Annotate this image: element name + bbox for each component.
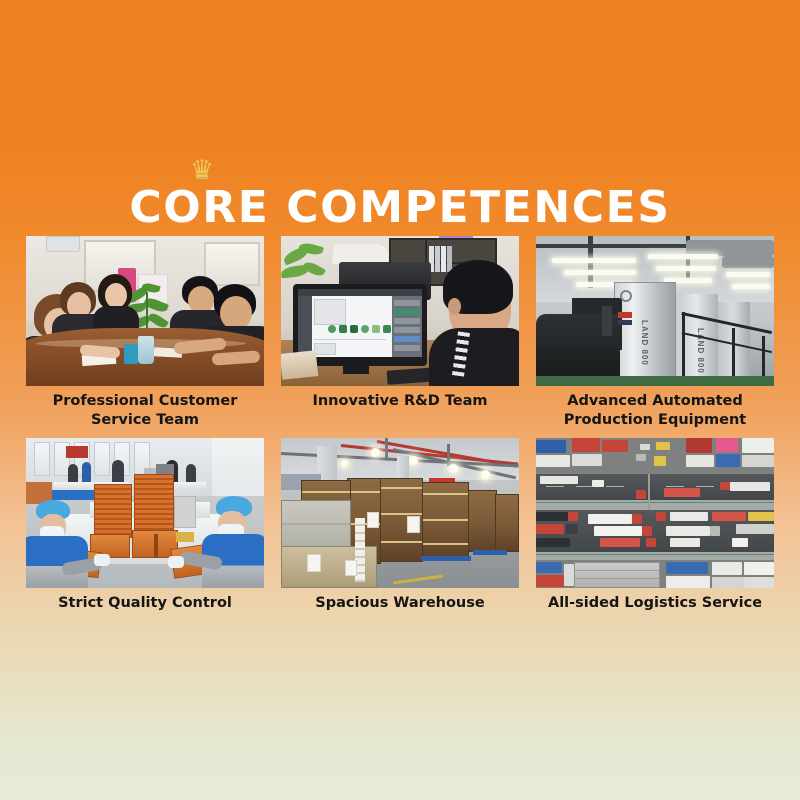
photo-aerial-container-port (536, 438, 774, 588)
caption-all-sided-logistics-service: All-sided Logistics Service (536, 588, 774, 613)
caption-line-1: Professional Customer (26, 392, 264, 411)
photo-warehouse-pallets (281, 438, 519, 588)
caption-line-1: Strict Quality Control (26, 594, 264, 613)
competences-grid: Professional Customer Service Team (26, 236, 774, 613)
cell-advanced-automated-production-equipment[interactable]: LAND 800 LAND 800 Advanced Automated Pro… (536, 236, 774, 430)
caption-strict-quality-control: Strict Quality Control (26, 588, 264, 613)
caption-spacious-warehouse: Spacious Warehouse (281, 588, 519, 613)
photo-customer-service-meeting (26, 236, 264, 386)
caption-innovative-rd-team: Innovative R&D Team (281, 386, 519, 411)
grid-row-2: Strict Quality Control (26, 438, 774, 613)
photo-rd-designer-at-monitor (281, 236, 519, 386)
page-title: CORE COMPETENCES (129, 181, 670, 235)
cell-strict-quality-control[interactable]: Strict Quality Control (26, 438, 264, 613)
cell-professional-customer-service-team[interactable]: Professional Customer Service Team (26, 236, 264, 430)
caption-line-1: Spacious Warehouse (281, 594, 519, 613)
grid-row-1: Professional Customer Service Team (26, 236, 774, 430)
caption-line-2: Production Equipment (536, 411, 774, 430)
caption-line-1: All-sided Logistics Service (536, 594, 774, 613)
caption-line-1: Innovative R&D Team (281, 392, 519, 411)
photo-automated-printing-press: LAND 800 LAND 800 (536, 236, 774, 386)
photo-quality-control-workers (26, 438, 264, 588)
cell-spacious-warehouse[interactable]: Spacious Warehouse (281, 438, 519, 613)
cell-all-sided-logistics-service[interactable]: All-sided Logistics Service (536, 438, 774, 613)
crown-icon: ♛ (182, 156, 222, 184)
caption-line-2: Service Team (26, 411, 264, 430)
caption-professional-customer-service-team: Professional Customer Service Team (26, 386, 264, 430)
caption-advanced-automated-production-equipment: Advanced Automated Production Equipment (536, 386, 774, 430)
caption-line-1: Advanced Automated (536, 392, 774, 411)
core-competences-banner: ♛ CORE COMPETENCES (0, 0, 800, 800)
cell-innovative-rd-team[interactable]: Innovative R&D Team (281, 236, 519, 430)
